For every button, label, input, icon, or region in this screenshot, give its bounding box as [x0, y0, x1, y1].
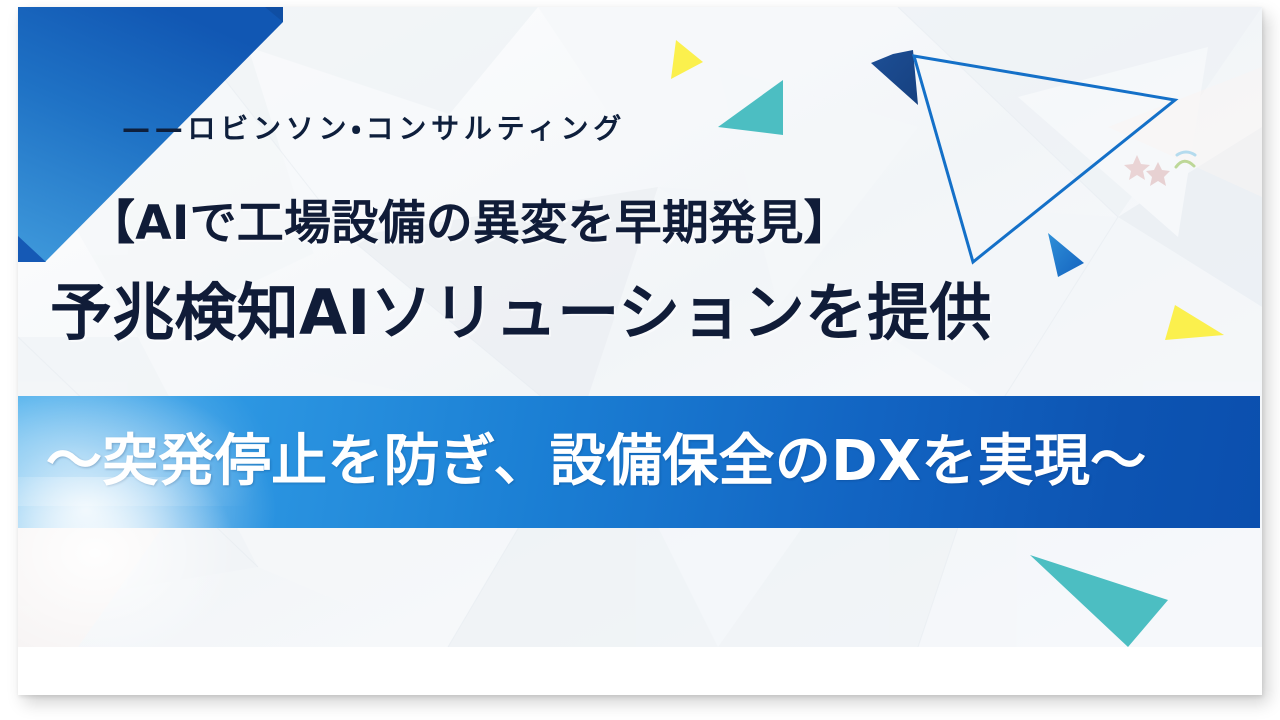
slide-footer-strip: [18, 647, 1262, 695]
slide-content-area: ——ロビンソン・コンサルティング 【AIで工場設備の異変を早期発見】 予兆検知A…: [18, 7, 1262, 647]
company-eyebrow: ——ロビンソン・コンサルティング: [122, 107, 626, 147]
banner-subtitle-text: ～突発停止を防ぎ、設備保全のDXを実現～: [46, 434, 1146, 490]
headline-bracketed: 【AIで工場設備の異変を早期発見】: [88, 200, 851, 247]
teal-triangle-bottom: [1030, 555, 1168, 647]
headline-main: 予兆検知AIソリューションを提供: [50, 282, 992, 344]
navy-triangle: [871, 50, 918, 105]
sparkle-cluster: [1124, 152, 1195, 186]
slide-stage: ——ロビンソン・コンサルティング 【AIで工場設備の異変を早期発見】 予兆検知A…: [0, 0, 1280, 720]
yellow-triangle-top: [671, 40, 703, 79]
subtitle-banner: ～突発停止を防ぎ、設備保全のDXを実現～: [18, 396, 1260, 528]
yellow-triangle-right: [1165, 305, 1224, 340]
blue-triangle-small: [1048, 233, 1084, 277]
slide-card: ——ロビンソン・コンサルティング 【AIで工場設備の異変を早期発見】 予兆検知A…: [18, 7, 1262, 695]
teal-triangle-top: [718, 80, 783, 135]
